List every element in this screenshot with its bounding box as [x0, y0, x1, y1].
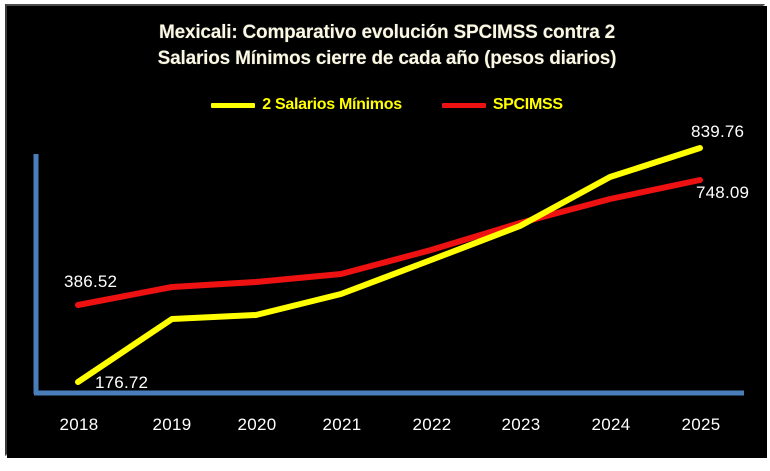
chart-canvas-frame: Mexicali: Comparativo evolución SPCIMSS … [5, 4, 765, 456]
x-tick-2022: 2022 [394, 415, 470, 435]
data-label-spcimss-start: 386.52 [64, 272, 117, 292]
x-tick-2021: 2021 [304, 415, 380, 435]
chart-figure: Mexicali: Comparativo evolución SPCIMSS … [0, 0, 770, 471]
series-line-salarios-minimos [78, 148, 700, 382]
x-tick-2024: 2024 [573, 415, 649, 435]
series-line-spcimss [78, 180, 700, 305]
x-tick-2025: 2025 [663, 415, 739, 435]
x-tick-2018: 2018 [41, 415, 117, 435]
data-label-spcimss-end: 748.09 [696, 183, 749, 203]
x-tick-2020: 2020 [219, 415, 295, 435]
data-label-salarios-minimos-end: 839.76 [691, 122, 744, 142]
data-label-salarios-minimos-start: 176.72 [95, 373, 148, 393]
chart-canvas: Mexicali: Comparativo evolución SPCIMSS … [7, 6, 767, 458]
x-axis-tick-labels: 2018 2019 2020 2021 2022 2023 2024 2025 [33, 415, 743, 441]
x-tick-2023: 2023 [483, 415, 559, 435]
x-tick-2019: 2019 [134, 415, 210, 435]
